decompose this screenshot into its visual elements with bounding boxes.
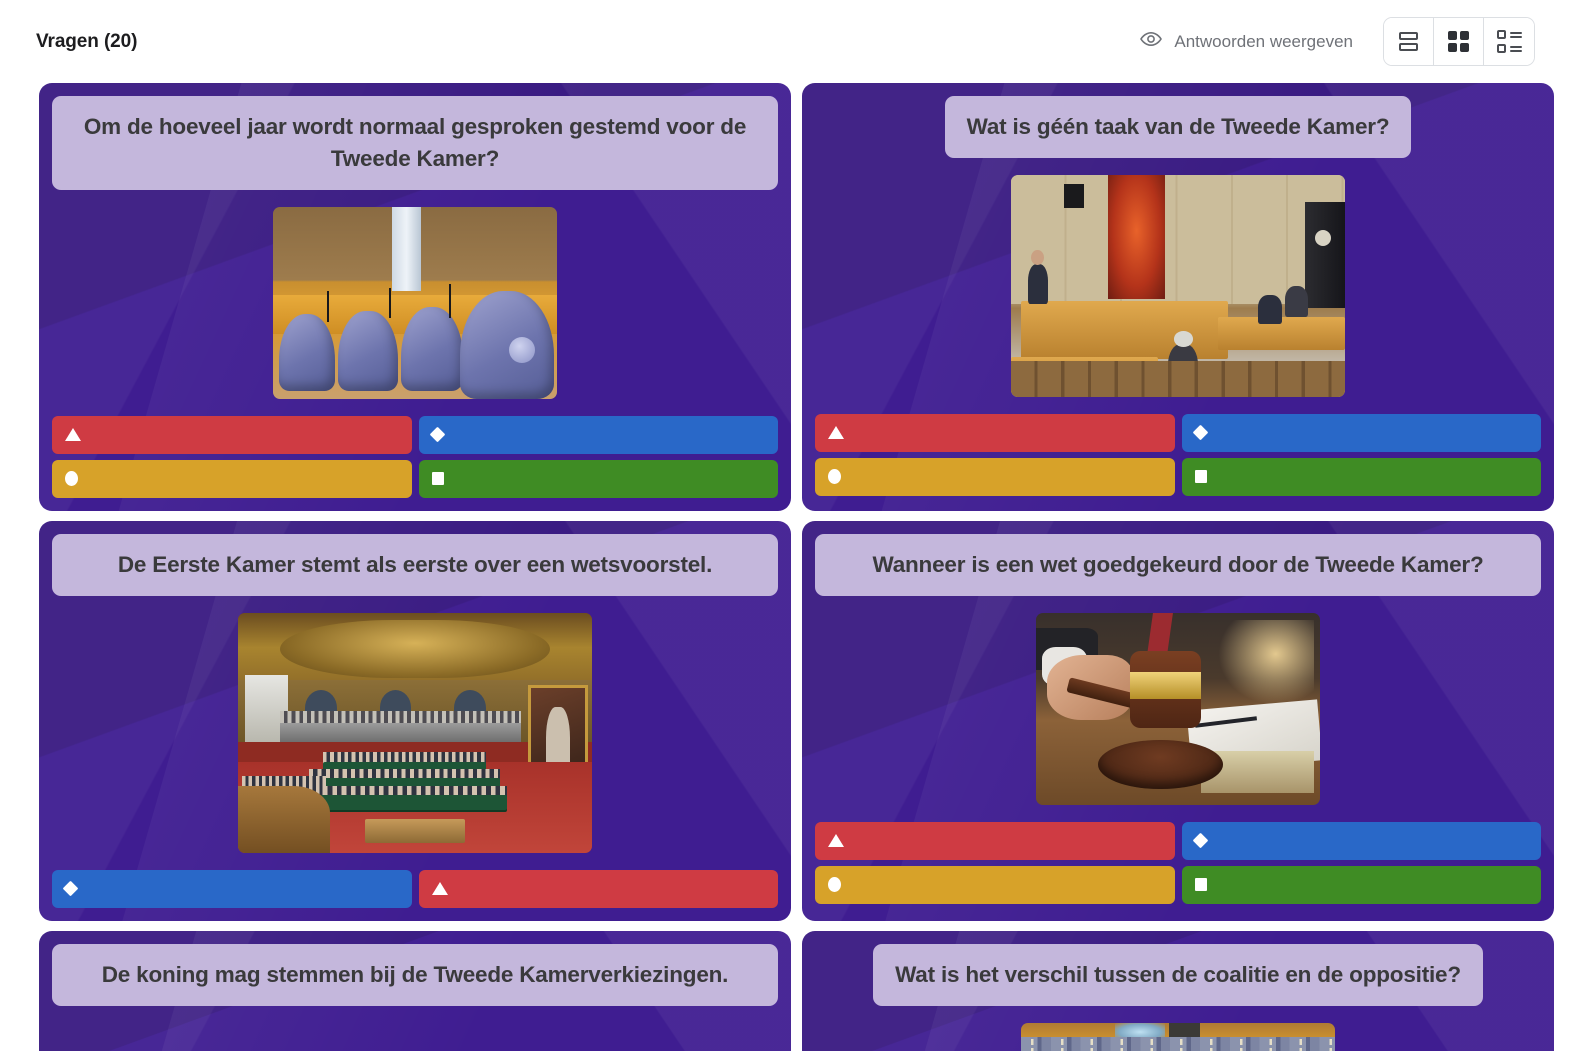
circle-icon: [828, 877, 841, 892]
question-box: Wat is géén taak van de Tweede Kamer?: [945, 96, 1412, 158]
view-mode-toggle: [1383, 17, 1535, 66]
answer-option-green[interactable]: [1182, 866, 1542, 904]
question-media: [815, 613, 1541, 805]
triangle-icon: [65, 428, 81, 441]
diamond-icon: [1192, 833, 1208, 849]
question-box: De Eerste Kamer stemt als eerste over ee…: [52, 534, 778, 596]
grid-icon: [1448, 31, 1469, 52]
circle-icon: [828, 469, 841, 484]
question-box: De koning mag stemmen bij de Tweede Kame…: [52, 944, 778, 1006]
question-text: Om de hoeveel jaar wordt normaal gesprok…: [74, 111, 756, 175]
answer-option-red[interactable]: [419, 870, 779, 908]
detail-list-icon: [1497, 30, 1522, 53]
answer-option-blue[interactable]: [1182, 822, 1542, 860]
answer-option-yellow[interactable]: [815, 458, 1175, 496]
diamond-icon: [63, 881, 79, 897]
question-text: De Eerste Kamer stemt als eerste over ee…: [74, 549, 756, 581]
question-image: [1021, 1023, 1335, 1051]
answer-list: [815, 414, 1541, 496]
list-view-button[interactable]: [1384, 18, 1434, 65]
diamond-icon: [429, 427, 445, 443]
circle-icon: [65, 471, 78, 486]
page-title: Vragen (20): [36, 31, 137, 53]
answer-option-red[interactable]: [52, 416, 412, 454]
question-card[interactable]: Wat is géén taak van de Tweede Kamer?: [802, 83, 1554, 511]
question-box: Wanneer is een wet goedgekeurd door de T…: [815, 534, 1541, 596]
question-card[interactable]: De koning mag stemmen bij de Tweede Kame…: [39, 931, 791, 1051]
answer-option-yellow[interactable]: [52, 460, 412, 498]
answer-option-yellow[interactable]: [815, 866, 1175, 904]
question-text: Wat is het verschil tussen de coalitie e…: [895, 959, 1461, 991]
question-image: [273, 207, 557, 399]
answer-option-green[interactable]: [419, 460, 779, 498]
question-card[interactable]: Om de hoeveel jaar wordt normaal gesprok…: [39, 83, 791, 511]
answer-list: [52, 870, 778, 908]
answer-option-green[interactable]: [1182, 458, 1542, 496]
question-box: Om de hoeveel jaar wordt normaal gesprok…: [52, 96, 778, 190]
square-icon: [432, 472, 444, 485]
detail-view-button[interactable]: [1484, 18, 1534, 65]
question-image: [1036, 613, 1320, 805]
show-answers-toggle[interactable]: Antwoorden weergeven: [1140, 31, 1353, 52]
answer-list: [815, 822, 1541, 904]
grid-view-button[interactable]: [1434, 18, 1484, 65]
square-icon: [1195, 878, 1207, 891]
question-media: [52, 613, 778, 853]
question-media: [815, 1023, 1541, 1051]
triangle-icon: [828, 834, 844, 847]
diamond-icon: [1192, 425, 1208, 441]
answer-option-blue[interactable]: [1182, 414, 1542, 452]
answer-list: [52, 416, 778, 498]
question-image: [1011, 175, 1345, 397]
answer-option-red[interactable]: [815, 822, 1175, 860]
question-media: [52, 207, 778, 399]
triangle-icon: [432, 882, 448, 895]
question-text: Wanneer is een wet goedgekeurd door de T…: [837, 549, 1519, 581]
square-icon: [1195, 470, 1207, 483]
rows-icon: [1399, 32, 1418, 51]
triangle-icon: [828, 426, 844, 439]
question-grid: Om de hoeveel jaar wordt normaal gesprok…: [0, 83, 1576, 1051]
eye-icon: [1140, 31, 1162, 52]
answer-option-blue[interactable]: [52, 870, 412, 908]
question-card[interactable]: Wat is het verschil tussen de coalitie e…: [802, 931, 1554, 1051]
page-header: Vragen (20) Antwoorden weergeven: [0, 0, 1576, 83]
question-text: Wat is géén taak van de Tweede Kamer?: [967, 111, 1390, 143]
question-box: Wat is het verschil tussen de coalitie e…: [873, 944, 1483, 1006]
question-card[interactable]: Wanneer is een wet goedgekeurd door de T…: [802, 521, 1554, 921]
question-card[interactable]: De Eerste Kamer stemt als eerste over ee…: [39, 521, 791, 921]
answer-option-red[interactable]: [815, 414, 1175, 452]
header-actions: Antwoorden weergeven: [1140, 17, 1535, 66]
question-text: De koning mag stemmen bij de Tweede Kame…: [74, 959, 756, 991]
question-media: [815, 175, 1541, 397]
show-answers-label: Antwoorden weergeven: [1174, 32, 1353, 52]
answer-option-blue[interactable]: [419, 416, 779, 454]
question-image: [238, 613, 592, 853]
